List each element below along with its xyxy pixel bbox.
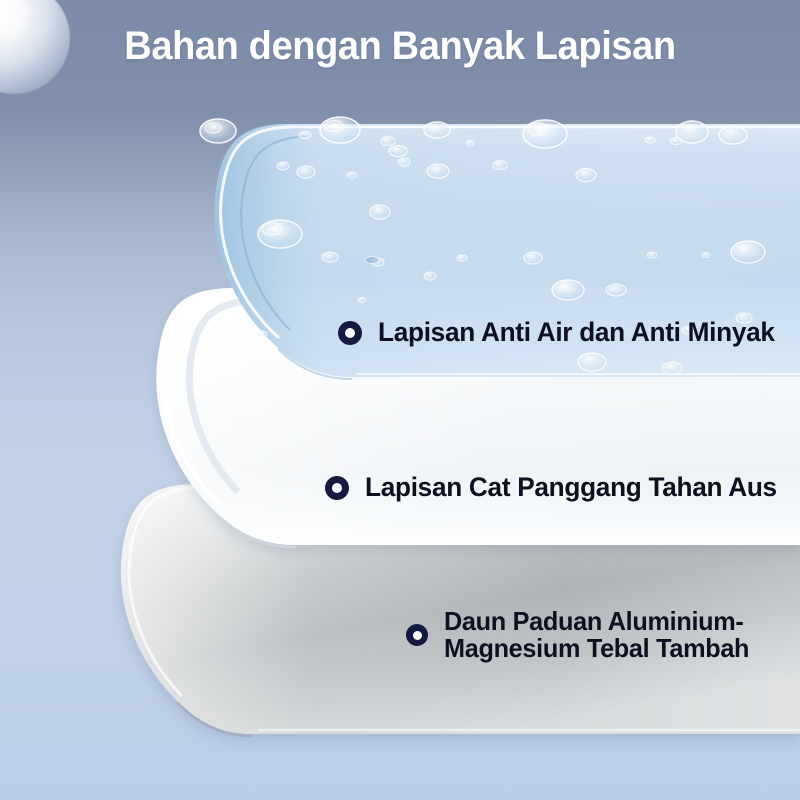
callout-label-3: Daun Paduan Aluminium- Magnesium Tebal T…: [444, 608, 749, 663]
callout-baked-paint[interactable]: Lapisan Cat Panggang Tahan Aus: [325, 473, 790, 502]
callout-alloy-sheet[interactable]: Daun Paduan Aluminium- Magnesium Tebal T…: [406, 608, 759, 663]
bullet-point-icon: [406, 624, 428, 646]
callout-label-1: Lapisan Anti Air dan Anti Minyak: [378, 318, 775, 347]
callout-label-3-line-1: Daun Paduan Aluminium-: [444, 608, 749, 635]
callout-label-2: Lapisan Cat Panggang Tahan Aus: [365, 473, 777, 502]
product-infographic: Bahan dengan Banyak Lapisan: [0, 0, 800, 800]
bullet-point-icon: [338, 321, 362, 345]
callout-anti-stick-coating[interactable]: Lapisan Anti Air dan Anti Minyak: [338, 318, 787, 347]
layer-stack-illustration: [0, 0, 800, 800]
bullet-point-icon: [325, 476, 349, 500]
callout-label-3-line-2: Magnesium Tebal Tambah: [444, 635, 749, 662]
